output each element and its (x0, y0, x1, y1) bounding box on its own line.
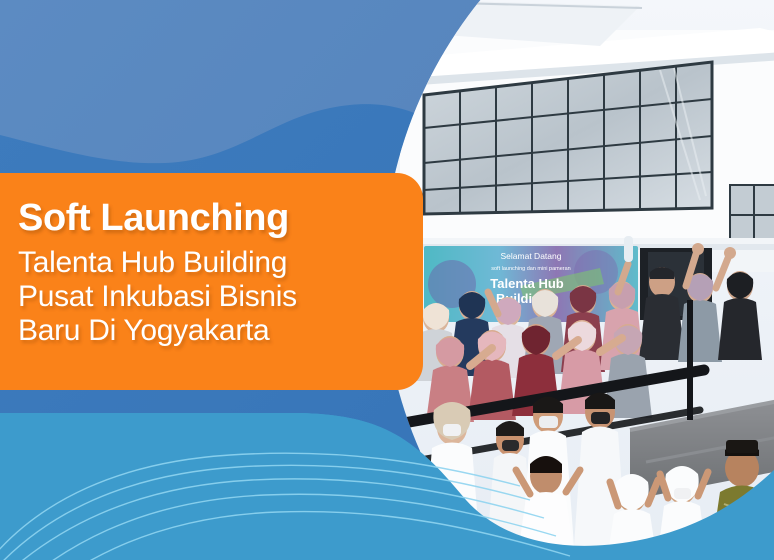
headline-card: Soft Launching Talenta Hub Building Pusa… (0, 173, 423, 390)
poster-canvas: Selamat Datang soft launching dan mini p… (0, 0, 774, 560)
subtitle-line-3: Baru Di Yogyakarta (18, 314, 423, 348)
subtitle-line-1: Talenta Hub Building (18, 246, 423, 280)
page-title: Soft Launching (18, 199, 423, 237)
subtitle-line-2: Pusat Inkubasi Bisnis (18, 280, 423, 314)
wave-bottom-overlay-shape (0, 413, 774, 560)
